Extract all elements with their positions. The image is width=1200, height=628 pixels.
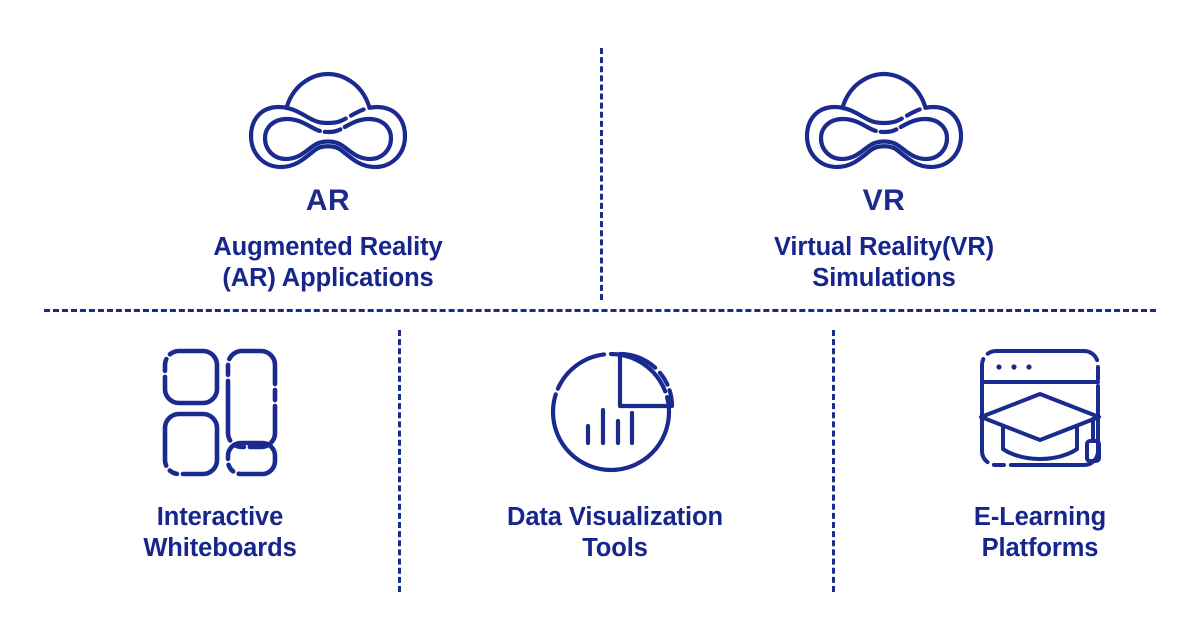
card-e-learning[interactable]: E-Learning Platforms (875, 340, 1200, 564)
card-interactive-whiteboards[interactable]: Interactive Whiteboards (55, 340, 385, 564)
vertical-dashed-divider-bottom-left (398, 330, 401, 592)
vr-headset-icon (799, 70, 969, 180)
card-virtual-reality[interactable]: VR Virtual Reality(VR) Simulations (644, 70, 1124, 294)
vr-headset-icon (243, 70, 413, 180)
card-augmented-reality[interactable]: AR Augmented Reality (AR) Applications (88, 70, 568, 294)
card-data-visualization[interactable]: Data Visualization Tools (450, 340, 780, 564)
vertical-dashed-divider-top (600, 48, 603, 300)
layout-grid-icon (150, 340, 290, 480)
badge-vr: VR (863, 186, 906, 216)
horizontal-dashed-divider (44, 309, 1156, 312)
badge-ar: AR (306, 186, 350, 216)
label-e-learning: E-Learning Platforms (974, 502, 1106, 564)
vertical-dashed-divider-bottom-right (832, 330, 835, 592)
pie-chart-bars-icon (545, 340, 685, 480)
infographic-canvas: AR Augmented Reality (AR) Applications V… (0, 0, 1200, 628)
label-interactive-whiteboards: Interactive Whiteboards (143, 502, 296, 564)
browser-graduation-cap-icon (960, 340, 1120, 480)
label-virtual-reality: Virtual Reality(VR) Simulations (774, 232, 994, 294)
label-augmented-reality: Augmented Reality (AR) Applications (213, 232, 442, 294)
label-data-visualization: Data Visualization Tools (507, 502, 723, 564)
